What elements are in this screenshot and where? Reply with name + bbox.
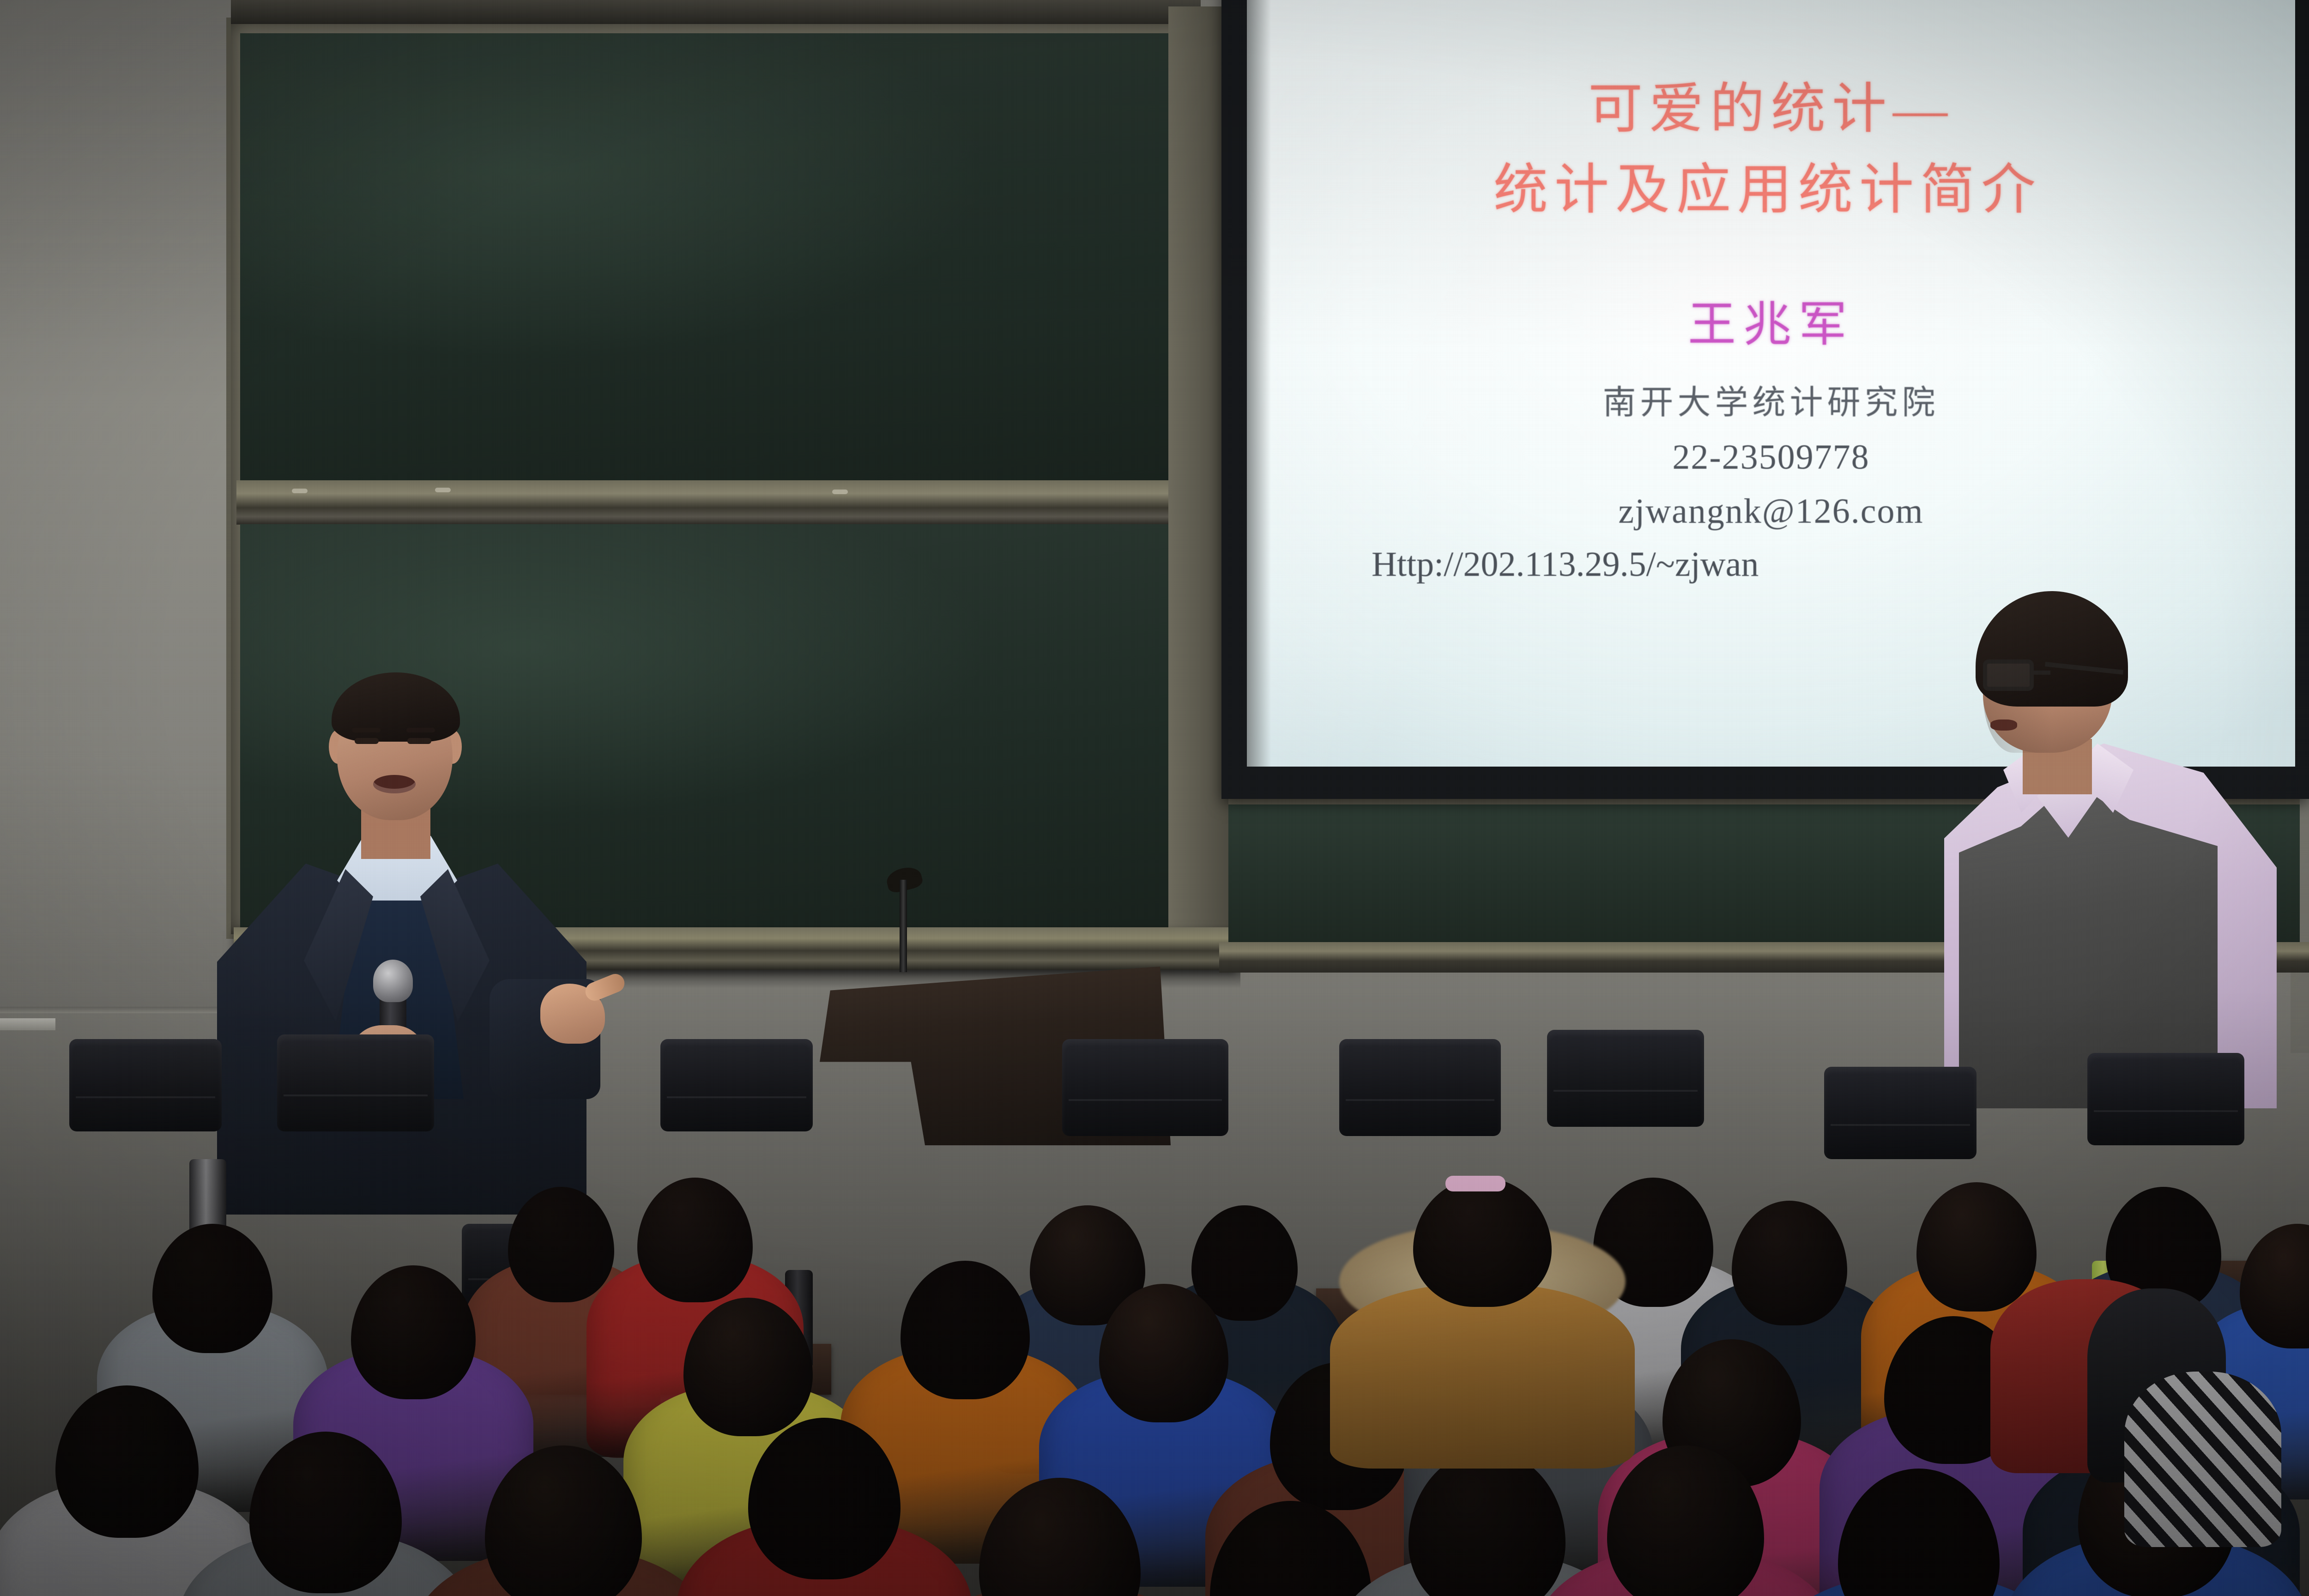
- patterned-jacket: [2124, 1372, 2281, 1547]
- audience-head: [1413, 1178, 1552, 1307]
- blackboard-right-frame: [1168, 6, 1228, 944]
- audience-head: [152, 1224, 272, 1353]
- chair-seam: [284, 1094, 428, 1096]
- slide-organization: 南开大学统计研究院: [1602, 375, 1939, 423]
- chair-seam: [76, 1096, 215, 1098]
- chair-back: [1339, 1039, 1501, 1136]
- lecture-hall-photo: 可爱的统计— 统计及应用统计简介 王兆军 南开大学统计研究院 22-235097…: [0, 0, 2309, 1596]
- audience-head: [351, 1265, 476, 1399]
- speaker-mouth: [373, 775, 416, 793]
- tan-parka-body: [1330, 1284, 1635, 1469]
- chair-seam: [1346, 1099, 1494, 1101]
- slide-homepage-url: Http://202.113.29.5/~zjwan: [1372, 544, 1759, 585]
- speaker-hair: [332, 672, 460, 742]
- chair-seam: [1553, 1090, 1698, 1092]
- audience-seating-area: [0, 901, 2309, 1596]
- eyeglasses-bridge: [2030, 671, 2050, 675]
- chair-seam: [667, 1096, 806, 1098]
- audience-head: [1191, 1205, 1298, 1321]
- chair-back: [277, 1034, 434, 1131]
- host-mouth: [1990, 719, 2017, 731]
- slide-phone: 22-23509778: [1672, 437, 1869, 478]
- audience-head: [901, 1261, 1030, 1399]
- speaker-eye-left: [355, 738, 379, 744]
- slide-email: zjwangnk@126.com: [1618, 491, 1923, 532]
- chair-back: [660, 1039, 813, 1131]
- audience-head: [637, 1178, 753, 1302]
- chair-back: [1062, 1039, 1228, 1136]
- speaker-eyebrow-left: [352, 728, 381, 732]
- audience-head: [1732, 1201, 1847, 1325]
- blackboard-upper-panel: [240, 33, 1182, 484]
- chair-seam: [1831, 1124, 1970, 1126]
- speaker-eye-right: [407, 738, 431, 744]
- chair-back: [1824, 1067, 1977, 1159]
- slide-title-line-1: 可爱的统计—: [1500, 69, 2042, 150]
- speaker-eyebrow-right: [406, 728, 435, 732]
- blackboard-middle-rail: [236, 480, 1185, 525]
- chair-back: [1547, 1030, 1704, 1127]
- hair-clip: [1445, 1176, 1505, 1191]
- chair-back: [69, 1039, 222, 1131]
- audience-head: [1916, 1182, 2037, 1312]
- audience-head: [508, 1187, 614, 1302]
- chair-back: [2087, 1053, 2244, 1145]
- slide-presenter-name: 王兆军: [1688, 285, 1854, 355]
- chair-seam: [1069, 1099, 1222, 1101]
- eyeglasses-icon: [1983, 659, 2034, 691]
- slide-title-line-2: 统计及应用统计简介: [1493, 150, 2042, 231]
- chair-seam: [2094, 1110, 2238, 1112]
- blackboard-top-rail: [231, 0, 1201, 24]
- slide-title: 可爱的统计— 统计及应用统计简介: [1500, 69, 2042, 230]
